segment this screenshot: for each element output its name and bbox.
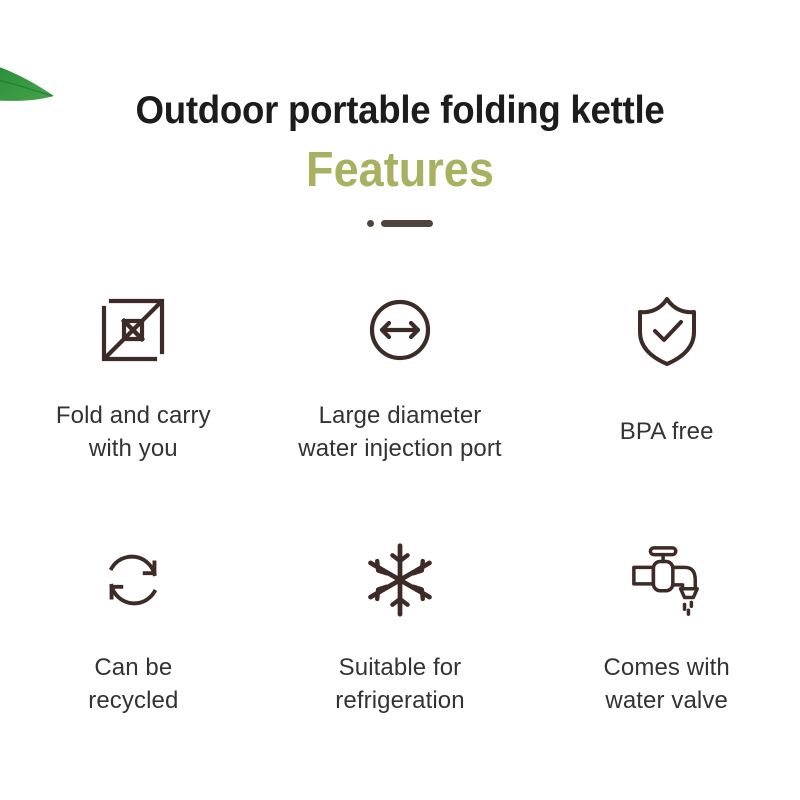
- feature-label: Suitable for refrigeration: [335, 651, 464, 717]
- recycle-arrows-icon: [94, 537, 172, 623]
- feature-label: Large diameter water injection port: [298, 399, 501, 465]
- feature-item-fold: Fold and carry with you: [0, 285, 267, 537]
- feature-label: Fold and carry with you: [56, 399, 211, 465]
- feature-label: BPA free: [620, 415, 714, 448]
- feature-label: Can be recycled: [88, 651, 178, 717]
- divider-bar: [381, 220, 433, 227]
- feature-label: Comes with water valve: [603, 651, 729, 717]
- snowflake-icon: [362, 537, 438, 623]
- page-title: Outdoor portable folding kettle: [24, 0, 776, 134]
- feature-item-bpa: BPA free: [533, 285, 800, 537]
- diameter-arrow-circle-icon: [360, 285, 440, 375]
- feature-item-diameter: Large diameter water injection port: [267, 285, 534, 537]
- feature-item-recycle: Can be recycled: [0, 537, 267, 789]
- water-faucet-icon: [626, 537, 708, 623]
- divider-dot: [367, 220, 374, 227]
- feature-page: Outdoor portable folding kettle Features…: [0, 0, 800, 800]
- shield-check-icon: [627, 285, 707, 375]
- feature-item-valve: Comes with water valve: [533, 537, 800, 789]
- page-header: Outdoor portable folding kettle Features: [0, 0, 800, 198]
- fold-arrows-icon: [93, 285, 173, 375]
- feature-item-refrigeration: Suitable for refrigeration: [267, 537, 534, 789]
- title-divider: [0, 220, 800, 227]
- page-subtitle: Features: [32, 134, 768, 198]
- feature-grid: Fold and carry with you Large diameter w…: [0, 285, 800, 789]
